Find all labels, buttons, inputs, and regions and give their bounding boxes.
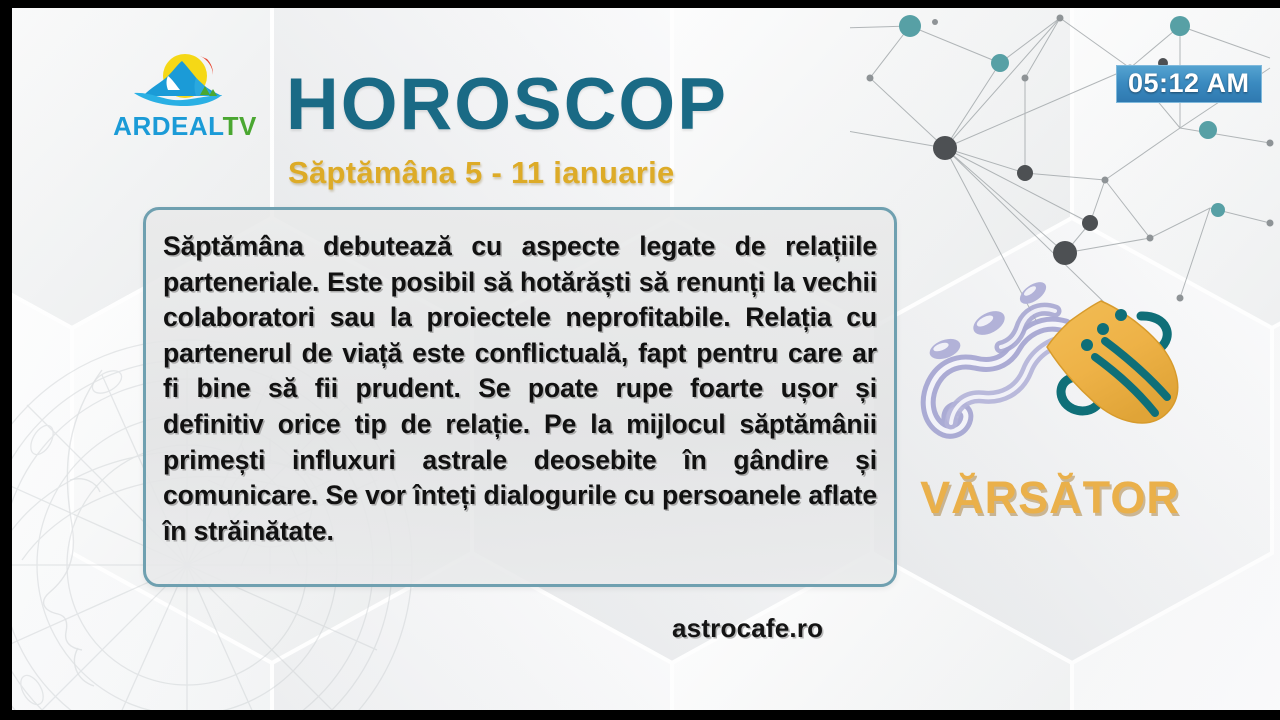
horoscope-text-panel: Săptămâna debutează cu aspecte legate de… — [143, 207, 897, 587]
clock-display: 05:12 AM — [1116, 65, 1262, 103]
horoscope-body-text: Săptămâna debutează cu aspecte legate de… — [163, 229, 877, 549]
ardeal-tv-mountain-sun-icon — [110, 52, 260, 108]
zodiac-sign-name: VĂRSĂTOR — [905, 475, 1195, 520]
logo-text-ardeal: ARDEAL — [113, 111, 222, 141]
aquarius-water-jug-icon — [905, 271, 1195, 461]
page-subtitle-week-range: Săptămâna 5 - 11 ianuarie — [288, 157, 675, 188]
broadcast-screen: ARDEALTV HOROSCOP Săptămâna 5 - 11 ianua… — [0, 0, 1280, 720]
source-credit: astrocafe.ro — [672, 613, 823, 644]
logo-wordmark: ARDEALTV — [110, 113, 260, 139]
logo-text-tv: TV — [223, 111, 257, 141]
broadcast-frame: ARDEALTV HOROSCOP Săptămâna 5 - 11 ianua… — [12, 8, 1280, 710]
channel-logo: ARDEALTV — [110, 52, 260, 138]
page-title: HOROSCOP — [286, 68, 728, 141]
